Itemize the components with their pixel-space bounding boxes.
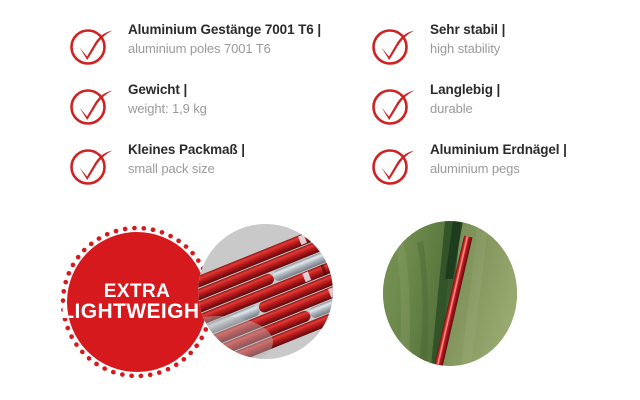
badge-line-1: EXTRA [104, 282, 170, 301]
feature-title-de: Aluminium Gestänge 7001 T6 | [128, 23, 368, 37]
feature-title-en: small pack size [128, 162, 368, 175]
feature-title-en: durable [430, 102, 640, 115]
feature-text: Aluminium Gestänge 7001 T6 | aluminium p… [114, 22, 368, 55]
badge-line-2: LIGHTWEIGHT [61, 301, 212, 322]
check-circle-icon [370, 84, 416, 128]
product-feature-panel: Aluminium Gestänge 7001 T6 | aluminium p… [0, 0, 640, 400]
feature-title-de: Langlebig | [430, 83, 640, 97]
media-row: EXTRA LIGHTWEIGHT [0, 205, 640, 400]
check-circle-icon [68, 24, 114, 68]
check-circle-icon [68, 84, 114, 128]
badge-label: EXTRA LIGHTWEIGHT [58, 223, 216, 381]
feature-column-right: Sehr stabil | high stability Langlebig |… [370, 22, 640, 202]
feature-text: Gewicht | weight: 1,9 kg [114, 82, 368, 115]
feature-text: Sehr stabil | high stability [416, 22, 640, 55]
feature-item: Aluminium Erdnägel | aluminium pegs [370, 142, 640, 198]
feature-item: Kleines Packmaß | small pack size [68, 142, 368, 198]
check-circle-icon [370, 144, 416, 188]
feature-title-en: high stability [430, 42, 640, 55]
feature-text: Kleines Packmaß | small pack size [114, 142, 368, 175]
feature-item: Sehr stabil | high stability [370, 22, 640, 78]
feature-text: Aluminium Erdnägel | aluminium pegs [416, 142, 640, 175]
extra-lightweight-badge: EXTRA LIGHTWEIGHT [58, 223, 216, 381]
feature-title-en: aluminium pegs [430, 162, 640, 175]
check-circle-icon [68, 144, 114, 188]
feature-item: Langlebig | durable [370, 82, 640, 138]
feature-title-de: Kleines Packmaß | [128, 143, 368, 157]
feature-text: Langlebig | durable [416, 82, 640, 115]
tent-pole-detail-photo [383, 221, 517, 366]
feature-item: Aluminium Gestänge 7001 T6 | aluminium p… [68, 22, 368, 78]
feature-title-de: Aluminium Erdnägel | [430, 143, 640, 157]
feature-title-en: weight: 1,9 kg [128, 102, 368, 115]
aluminium-poles-photo [198, 224, 333, 359]
feature-item: Gewicht | weight: 1,9 kg [68, 82, 368, 138]
feature-title-de: Gewicht | [128, 83, 368, 97]
feature-column-left: Aluminium Gestänge 7001 T6 | aluminium p… [68, 22, 368, 202]
check-circle-icon [370, 24, 416, 68]
feature-list: Aluminium Gestänge 7001 T6 | aluminium p… [0, 0, 640, 205]
feature-title-en: aluminium poles 7001 T6 [128, 42, 368, 55]
feature-title-de: Sehr stabil | [430, 23, 640, 37]
